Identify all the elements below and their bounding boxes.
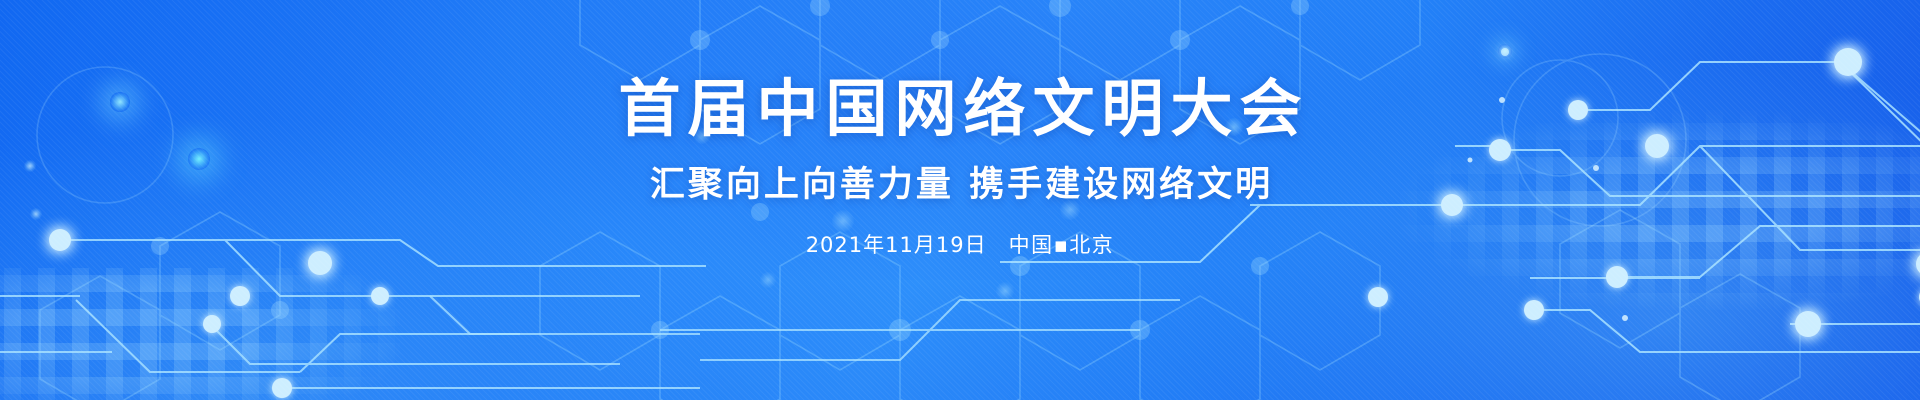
- banner-content: 首届中国网络文明大会 汇聚向上向善力量 携手建设网络文明 2021年11月19日…: [0, 0, 1920, 400]
- banner-subtitle: 汇聚向上向善力量 携手建设网络文明: [647, 168, 1273, 203]
- event-location: 中国▪北京: [1009, 235, 1115, 256]
- event-meta: 2021年11月19日 中国▪北京: [806, 235, 1115, 256]
- page-title: 首届中国网络文明大会: [611, 78, 1308, 140]
- conference-banner: 首届中国网络文明大会 汇聚向上向善力量 携手建设网络文明 2021年11月19日…: [0, 0, 1920, 400]
- event-date: 2021年11月19日: [806, 235, 987, 256]
